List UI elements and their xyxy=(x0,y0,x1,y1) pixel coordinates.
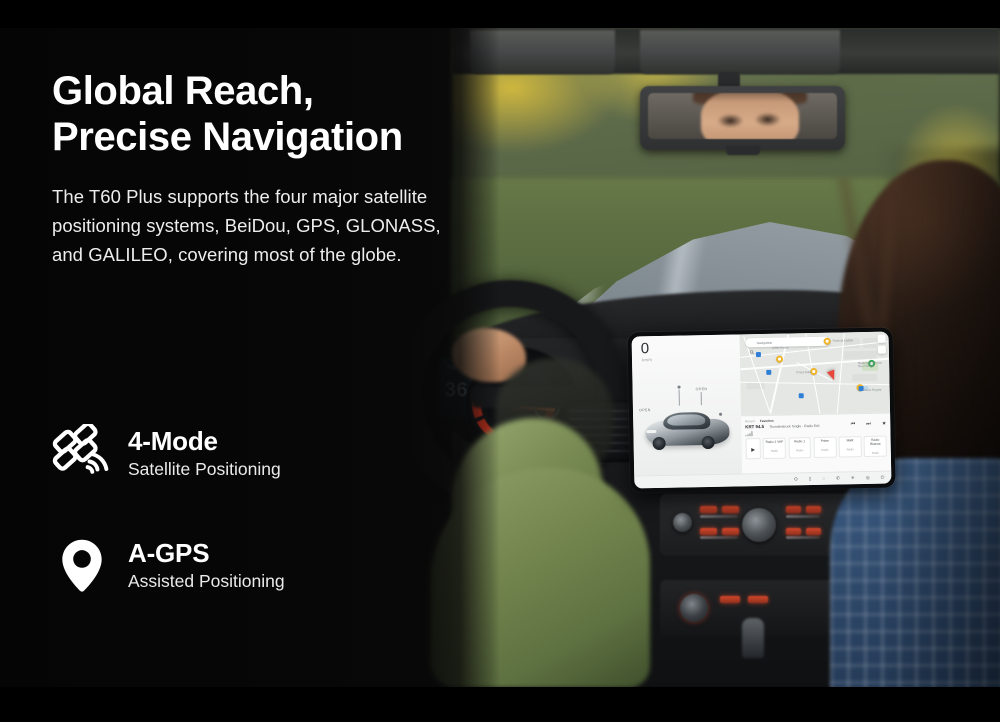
map-label-3: Prisut Avlid xyxy=(796,370,811,374)
preset-band-3: Radio xyxy=(816,449,834,452)
console-button-radio[interactable] xyxy=(700,506,717,513)
preset-name-4: M&R xyxy=(841,439,859,443)
car-front-wheel xyxy=(653,437,666,450)
letterbox-bottom xyxy=(0,687,1000,722)
skip-previous-icon[interactable]: ⏮ xyxy=(851,422,856,427)
sun-visor-right xyxy=(640,30,840,74)
gear-shifter xyxy=(742,618,764,658)
console-button-car[interactable] xyxy=(786,528,801,535)
door-leader-1 xyxy=(679,390,680,406)
passenger-shadow xyxy=(880,148,1000,687)
climate-button-b[interactable] xyxy=(748,596,768,603)
settings-icon[interactable]: ◎ xyxy=(866,476,870,481)
media-player-panel: Recent Favorites KRT 94.5 Thunderstruck … xyxy=(741,412,891,473)
power-icon[interactable]: ⏻ xyxy=(881,475,885,480)
preset-band-1: Radio xyxy=(766,450,784,453)
preset-name-1: Radio 2 VHF xyxy=(766,441,784,445)
feature-subtitle-satellite: Satellite Positioning xyxy=(128,458,281,481)
console-button-dir[interactable] xyxy=(722,528,739,535)
map-label-5: Restoranbirds wis Neu Home xyxy=(858,362,882,369)
preset-band-5: Radio xyxy=(867,451,885,454)
preset-tile-1[interactable]: Radio 2 VHF Radio xyxy=(763,438,786,459)
preset-tile-5[interactable]: Radio Bluesat Radio xyxy=(864,436,887,457)
vehicle-status-pane[interactable]: 0 km/h OPEN OPEN xyxy=(632,334,743,475)
console-strip-4 xyxy=(786,536,820,539)
driver-reflection-face xyxy=(701,93,799,139)
play-icon[interactable]: ▶ xyxy=(745,438,760,459)
call-icon[interactable]: ✆ xyxy=(836,476,840,481)
feature-text-satellite: 4-Mode Satellite Positioning xyxy=(128,427,281,481)
map-recenter-button[interactable] xyxy=(878,346,886,354)
mirror-base xyxy=(726,146,760,155)
rearview-mirror xyxy=(640,86,845,150)
car-windshield xyxy=(667,414,705,426)
feature-text-agps: A-GPS Assisted Positioning xyxy=(128,539,285,593)
feature-item-agps: A-GPS Assisted Positioning xyxy=(52,536,285,596)
feature-subtitle-agps: Assisted Positioning xyxy=(128,570,285,593)
screen-upper-section: 0 km/h OPEN OPEN xyxy=(632,332,892,476)
media-source-tabs: Recent Favorites xyxy=(745,418,774,423)
tab-recent[interactable]: Recent xyxy=(745,419,755,423)
track-title: Thunderstruck Single - Radio Edit xyxy=(769,423,820,428)
climate-button-a[interactable] xyxy=(720,596,740,603)
vehicle-3d-render[interactable] xyxy=(643,407,732,453)
preset-tile-2[interactable]: Radio 1 Radio xyxy=(788,437,811,458)
speed-unit-label: km/h xyxy=(642,357,652,362)
mirror-glass xyxy=(648,93,837,139)
phone-icon[interactable]: ▯ xyxy=(809,477,812,482)
map-pin-icon xyxy=(52,536,112,596)
door-leader-2 xyxy=(701,392,702,405)
station-name: KRT 94.5 xyxy=(745,424,764,429)
console-button-traffic[interactable] xyxy=(806,506,821,513)
feature-title-agps: A-GPS xyxy=(128,539,285,568)
map-view[interactable]: Navigation × xyxy=(739,332,890,415)
product-feature-banner: trip 36 xyxy=(0,0,1000,722)
map-pin-poi-1[interactable] xyxy=(824,338,831,347)
preset-name-3: Prime xyxy=(816,440,834,444)
preset-tile-4[interactable]: M&R Radio xyxy=(839,436,862,457)
preset-name-5: Radio Bluesat xyxy=(866,439,884,447)
map-layers-button[interactable] xyxy=(878,335,886,343)
star-icon[interactable]: ★ xyxy=(882,422,887,427)
car-rear-wheel xyxy=(701,436,714,449)
speed-readout: 0 xyxy=(641,341,650,356)
map-label-4: Douse Royale xyxy=(863,388,882,392)
trunk-status-label: OPEN xyxy=(696,387,708,391)
feature-item-satellite: 4-Mode Satellite Positioning xyxy=(52,424,285,484)
car-headlight xyxy=(646,430,656,433)
map-search-text: Navigation xyxy=(757,340,773,344)
head-unit-screen: 0 km/h OPEN OPEN xyxy=(632,332,892,489)
feature-title-satellite: 4-Mode xyxy=(128,427,281,456)
console-button-phone[interactable] xyxy=(700,528,717,535)
page-title: Global Reach, Precise Navigation xyxy=(52,68,500,160)
fan-icon[interactable]: ◌ xyxy=(822,476,825,481)
climate-temp-knob[interactable] xyxy=(680,594,708,622)
car-icon[interactable]: ⛭ xyxy=(794,477,798,482)
console-main-knob[interactable] xyxy=(742,508,776,542)
radio-presets-row: ▶ Radio 2 VHF Radio Radio 1 Radio xyxy=(745,436,886,460)
console-button-setup[interactable] xyxy=(806,528,821,535)
map-label-2: Pizzeria Ladder xyxy=(833,338,854,342)
satellite-signal-icon xyxy=(52,424,112,484)
skip-next-icon[interactable]: ⏭ xyxy=(866,422,871,427)
console-button-nav[interactable] xyxy=(786,506,801,513)
map-marker-blue-1[interactable] xyxy=(756,352,761,357)
description-text: The T60 Plus supports the four major sat… xyxy=(52,182,452,270)
door-marker-1 xyxy=(678,386,681,389)
letterbox-top xyxy=(0,0,1000,28)
console-volume-knob[interactable] xyxy=(673,513,692,532)
navigation-media-pane: Navigation × xyxy=(739,332,891,474)
playback-controls: ⏮ ⏭ ★ xyxy=(851,422,887,428)
navigation-arrow-icon xyxy=(827,370,838,382)
search-icon xyxy=(750,341,754,345)
map-marker-blue-2[interactable] xyxy=(766,370,771,375)
copy-panel: Global Reach, Precise Navigation The T60… xyxy=(0,0,500,722)
map-marker-blue-3[interactable] xyxy=(799,393,804,398)
snowflake-icon[interactable]: ✳ xyxy=(851,476,855,481)
map-label-1: Leffet House xyxy=(772,345,789,349)
preset-tile-3[interactable]: Prime Radio xyxy=(813,437,836,458)
console-strip-2 xyxy=(700,536,738,539)
console-button-media[interactable] xyxy=(722,506,739,513)
map-pin-poi-2[interactable] xyxy=(776,356,783,365)
preset-band-4: Radio xyxy=(841,448,859,451)
tab-favorites[interactable]: Favorites xyxy=(760,418,774,422)
car-head-unit-display[interactable]: 0 km/h OPEN OPEN xyxy=(627,327,895,492)
console-strip-1 xyxy=(700,515,738,518)
feature-list: 4-Mode Satellite Positioning A-GPS Assis… xyxy=(52,424,285,648)
preset-name-2: Radio 1 xyxy=(791,440,809,444)
preset-band-2: Radio xyxy=(791,449,809,452)
console-strip-3 xyxy=(786,515,820,518)
